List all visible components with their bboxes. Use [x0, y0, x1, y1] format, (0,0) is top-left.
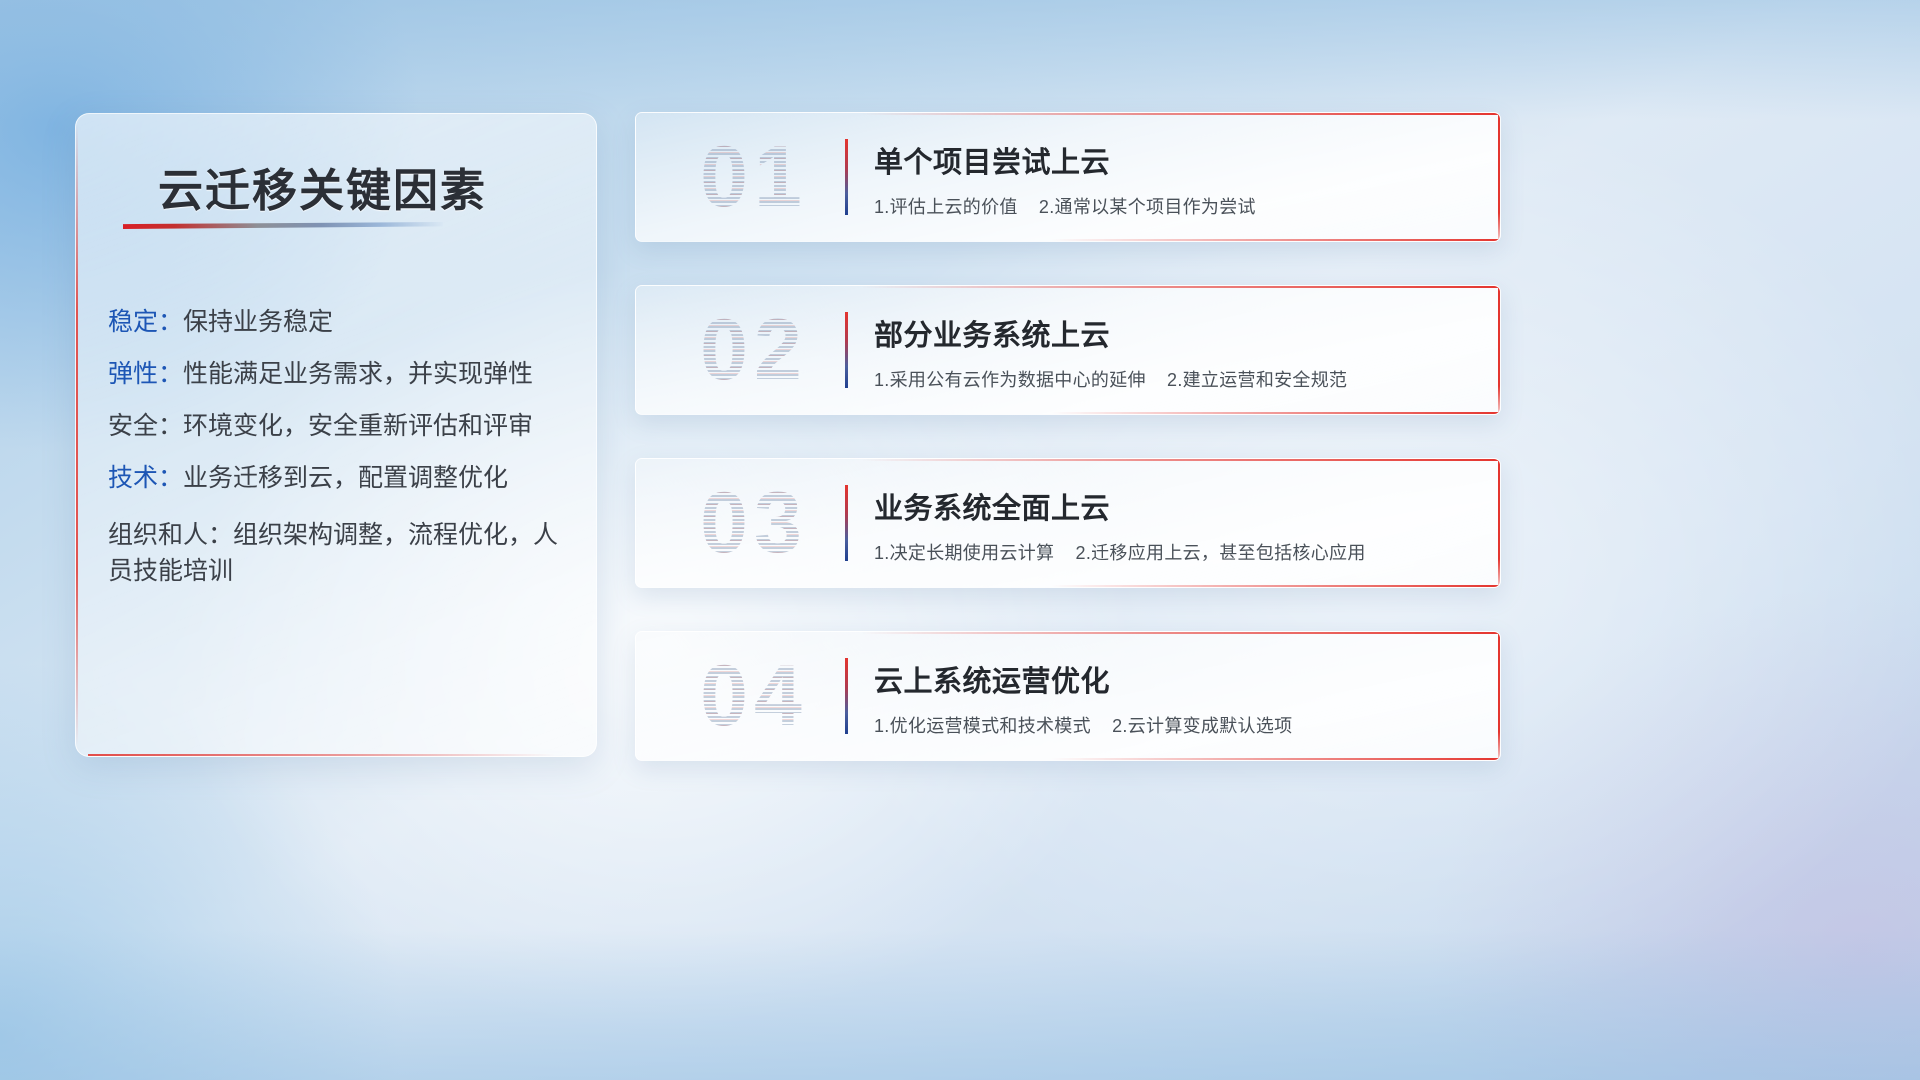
panel-title: 云迁移关键因素 — [158, 154, 487, 219]
step-divider — [845, 658, 848, 734]
step-number-ghost-overlay: 03 — [664, 475, 844, 571]
factor-item: 组织和人：组织架构调整，流程优化，人员技能培训 — [108, 518, 572, 589]
factor-label: 组织和人： — [108, 521, 233, 549]
step-card[interactable]: 01 01 单个项目尝试上云 1.评估上云的价值 2.通常以某个项目作为尝试 — [635, 112, 1501, 242]
factor-value: 保持业务稳定 — [183, 308, 333, 336]
step-subtitle: 1.评估上云的价值 2.通常以某个项目作为尝试 — [874, 193, 1256, 219]
step-subtitle: 1.决定长期使用云计算 2.迁移应用上云，甚至包括核心应用 — [874, 539, 1366, 565]
card-bottom-accent — [1051, 239, 1500, 241]
factor-item: 弹性：性能满足业务需求，并实现弹性 — [108, 362, 572, 387]
step-title: 云上系统运营优化 — [874, 658, 1110, 700]
factor-value: 环境变化，安全重新评估和评审 — [183, 412, 533, 440]
background-bottom-glow — [0, 930, 1920, 1080]
factor-item: 安全：环境变化，安全重新评估和评审 — [108, 414, 572, 439]
factor-label: 稳定： — [108, 308, 183, 336]
factor-label: 技术： — [108, 464, 183, 492]
factor-value: 性能满足业务需求，并实现弹性 — [183, 360, 533, 388]
background-top-glow — [0, 0, 1920, 120]
factor-value: 业务迁移到云，配置调整优化 — [183, 464, 508, 492]
factor-item: 稳定：保持业务稳定 — [108, 310, 572, 335]
step-card[interactable]: 04 04 云上系统运营优化 1.优化运营模式和技术模式 2.云计算变成默认选项 — [635, 631, 1501, 761]
factor-label: 弹性： — [108, 360, 183, 388]
step-divider — [845, 485, 848, 561]
factor-item: 技术：业务迁移到云，配置调整优化 — [108, 466, 572, 491]
step-number-ghost-overlay: 04 — [664, 648, 844, 744]
migration-steps-list: 01 01 单个项目尝试上云 1.评估上云的价值 2.通常以某个项目作为尝试 0… — [635, 112, 1501, 804]
step-divider — [845, 139, 848, 215]
step-card[interactable]: 03 03 业务系统全面上云 1.决定长期使用云计算 2.迁移应用上云，甚至包括… — [635, 458, 1501, 588]
title-underline-rule — [123, 222, 443, 229]
card-bottom-accent — [1051, 412, 1500, 414]
step-subtitle: 1.优化运营模式和技术模式 2.云计算变成默认选项 — [874, 712, 1292, 738]
step-title: 业务系统全面上云 — [874, 485, 1110, 527]
card-bottom-accent — [1051, 585, 1500, 587]
step-title: 单个项目尝试上云 — [874, 139, 1110, 181]
card-bottom-accent — [1051, 758, 1500, 760]
step-number-ghost-overlay: 02 — [664, 302, 844, 398]
factor-label: 安全： — [108, 412, 183, 440]
card-top-accent — [861, 459, 1500, 461]
step-title: 部分业务系统上云 — [874, 312, 1110, 354]
step-number-ghost-overlay: 01 — [664, 129, 844, 225]
key-factors-panel: 云迁移关键因素 稳定：保持业务稳定 弹性：性能满足业务需求，并实现弹性 安全：环… — [75, 113, 597, 757]
step-divider — [845, 312, 848, 388]
card-top-accent — [861, 113, 1500, 115]
step-subtitle: 1.采用公有云作为数据中心的延伸 2.建立运营和安全规范 — [874, 366, 1347, 392]
factors-list: 稳定：保持业务稳定 弹性：性能满足业务需求，并实现弹性 安全：环境变化，安全重新… — [108, 310, 572, 616]
card-top-accent — [861, 286, 1500, 288]
card-top-accent — [861, 632, 1500, 634]
step-card[interactable]: 02 02 部分业务系统上云 1.采用公有云作为数据中心的延伸 2.建立运营和安… — [635, 285, 1501, 415]
